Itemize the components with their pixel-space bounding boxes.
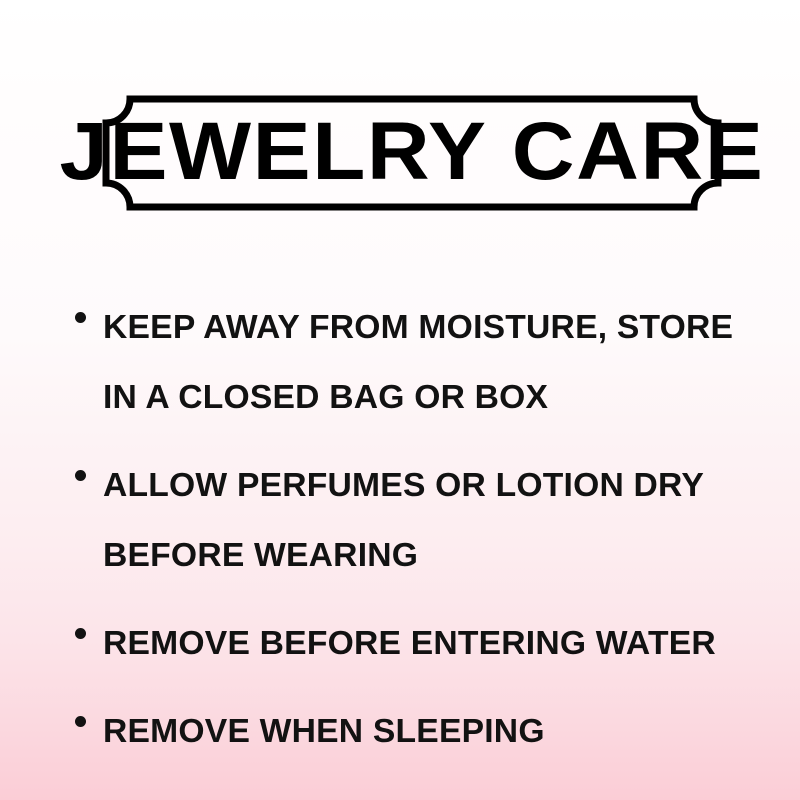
bullet-icon [75,716,86,727]
care-instructions-list: KEEP AWAY FROM MOISTURE, STORE IN A CLOS… [68,292,778,766]
list-item: KEEP AWAY FROM MOISTURE, STORE IN A CLOS… [68,292,778,432]
list-item: ALLOW PERFUMES OR LOTION DRY BEFORE WEAR… [68,450,778,590]
bullet-icon [75,628,86,639]
bullet-icon [75,312,86,323]
jewelry-care-card: JEWELRY CARE KEEP AWAY FROM MOISTURE, ST… [0,0,800,800]
page-title: JEWELRY CARE [81,92,742,214]
care-item-text: REMOVE WHEN SLEEPING [103,696,792,766]
care-item-text: ALLOW PERFUMES OR LOTION DRY BEFORE WEAR… [103,450,776,590]
list-item: REMOVE WHEN SLEEPING [68,696,778,766]
care-item-text: REMOVE BEFORE ENTERING WATER [103,608,792,678]
bullet-icon [75,470,86,481]
care-item-text: KEEP AWAY FROM MOISTURE, STORE IN A CLOS… [103,292,776,432]
title-plaque: JEWELRY CARE [100,92,724,214]
list-item: REMOVE BEFORE ENTERING WATER [68,608,778,678]
